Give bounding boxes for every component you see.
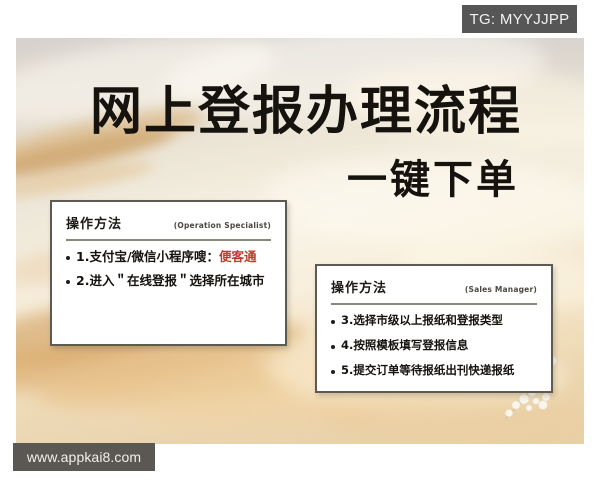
bullet-dot-icon — [66, 256, 70, 260]
telegram-tag-badge: TG: MYYJJPP — [462, 5, 577, 33]
bullet-dot-icon — [331, 320, 335, 324]
card-body: 1.支付宝/微信小程序嗖：便客通 2.进入＂在线登报＂选择所在城市 — [52, 241, 285, 289]
site-watermark: www.appkai8.com — [13, 443, 155, 471]
list-item: 3.选择市级以上报纸和登报类型 — [331, 313, 541, 327]
card-role-label: (Operation Specialist) — [174, 221, 271, 230]
bullet-dot-icon — [66, 280, 70, 284]
page-title: 网上登报办理流程 — [90, 86, 522, 138]
cloud-streak — [316, 391, 584, 444]
list-item-text: 3.选择市级以上报纸和登报类型 — [341, 313, 503, 327]
cloud-streak — [16, 155, 156, 204]
list-item: 2.进入＂在线登报＂选择所在城市 — [66, 273, 275, 289]
poster-canvas: 网上登报办理流程 一键下单 操作方法 (Operation Specialist… — [0, 0, 600, 480]
steps-card-operation-specialist: 操作方法 (Operation Specialist) 1.支付宝/微信小程序嗖… — [50, 200, 287, 346]
card-role-label: (Sales Manager) — [465, 285, 537, 294]
card-title: 操作方法 — [331, 277, 387, 296]
steps-card-sales-manager: 操作方法 (Sales Manager) 3.选择市级以上报纸和登报类型 4.按… — [315, 264, 553, 393]
card-title: 操作方法 — [66, 213, 122, 232]
list-item: 5.提交订单等待报纸出刊快递报纸 — [331, 363, 541, 377]
bullet-dot-icon — [331, 370, 335, 374]
list-item-text: 4.按照模板填写登报信息 — [341, 338, 468, 352]
page-subtitle: 一键下单 — [347, 160, 519, 200]
list-item-text: 2.进入＂在线登报＂选择所在城市 — [76, 273, 264, 289]
list-item-text: 5.提交订单等待报纸出刊快递报纸 — [341, 363, 514, 377]
card-body: 3.选择市级以上报纸和登报类型 4.按照模板填写登报信息 5.提交订单等待报纸出… — [317, 305, 551, 378]
bullet-dot-icon — [331, 345, 335, 349]
card-header: 操作方法 (Operation Specialist) — [52, 202, 285, 232]
card-header: 操作方法 (Sales Manager) — [317, 266, 551, 296]
list-item-text: 1.支付宝/微信小程序嗖：便客通 — [76, 249, 257, 265]
list-item: 4.按照模板填写登报信息 — [331, 338, 541, 352]
list-item-accent: 便客通 — [219, 249, 257, 264]
list-item: 1.支付宝/微信小程序嗖：便客通 — [66, 249, 275, 265]
